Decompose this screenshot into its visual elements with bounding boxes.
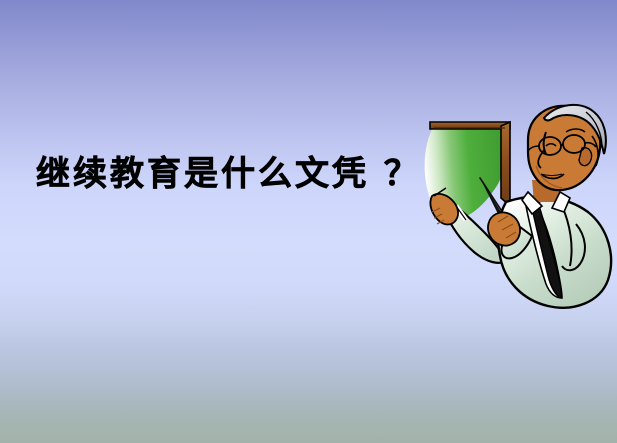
chalkboard-frame-right [501, 122, 510, 206]
illustration-professor-pointing-at-chalkboard [410, 96, 617, 316]
slide-title: 继续教育是什么文凭 ？ [36, 152, 436, 196]
slide-canvas: 继续教育是什么文凭 ？ [0, 0, 617, 443]
